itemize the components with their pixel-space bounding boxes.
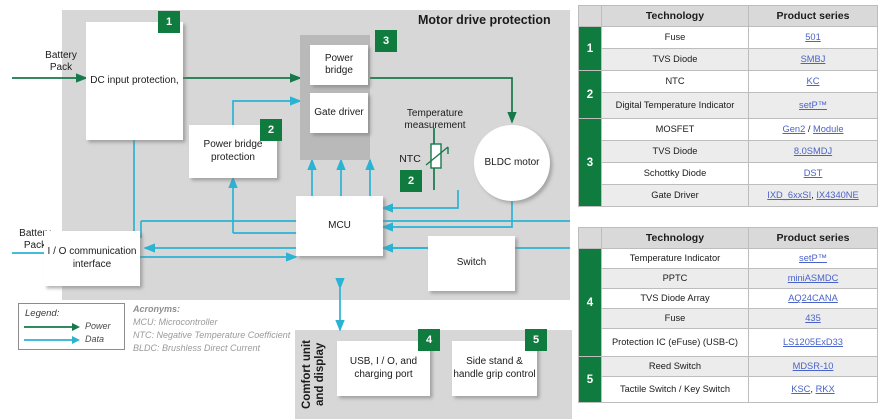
- acronym-mcu: MCU: Microcontroller: [133, 316, 290, 329]
- table-row: Gate DriverIXD_6xxSI, IX4340NE: [579, 185, 878, 207]
- cell-product-series: 501: [749, 27, 878, 49]
- legend-power-label: Power: [85, 321, 111, 331]
- table-row: Tactile Switch / Key SwitchKSC, RKX: [579, 377, 878, 403]
- table-row: Digital Temperature IndicatorsetP™: [579, 93, 878, 119]
- block-gate-driver-label: Gate driver: [314, 107, 363, 120]
- label-comfort-unit-and-display: Comfort unit and display: [301, 332, 327, 417]
- header-number: [579, 228, 602, 249]
- table-row: Fuse435: [579, 309, 878, 329]
- product-link[interactable]: RKX: [816, 384, 835, 394]
- block-bldc-motor-label: BLDC motor: [484, 157, 539, 170]
- cell-technology: PPTC: [602, 269, 749, 289]
- group-number-3: 3: [579, 119, 602, 207]
- badge-4[interactable]: 4: [418, 329, 440, 351]
- product-link[interactable]: miniASMDC: [788, 273, 839, 283]
- header-technology: Technology: [602, 228, 749, 249]
- product-link[interactable]: setP™: [799, 100, 827, 110]
- product-link[interactable]: SMBJ: [801, 54, 826, 64]
- header-product-series: Product series: [749, 228, 878, 249]
- cell-technology: NTC: [602, 71, 749, 93]
- product-separator: /: [805, 124, 813, 134]
- block-gate-driver[interactable]: Gate driver: [310, 93, 368, 133]
- block-switch-label: Switch: [457, 257, 486, 270]
- badge-2-ntc[interactable]: 2: [400, 170, 422, 192]
- cell-technology: MOSFET: [602, 119, 749, 141]
- cell-product-series: Gen2 / Module: [749, 119, 878, 141]
- cell-product-series: MDSR-10: [749, 357, 878, 377]
- cell-product-series: setP™: [749, 249, 878, 269]
- block-power-bridge[interactable]: Power bridge: [310, 45, 368, 85]
- table-row: Protection IC (eFuse) (USB-C)LS1205ExD33: [579, 329, 878, 357]
- product-link[interactable]: Gen2: [783, 124, 806, 134]
- group-number-5: 5: [579, 357, 602, 403]
- label-ntc: NTC: [395, 153, 425, 166]
- product-link[interactable]: 8.0SMDJ: [794, 146, 832, 156]
- block-usb-io-charging-port[interactable]: USB, I / O, and charging port: [337, 341, 430, 396]
- header-product-series: Product series: [749, 6, 878, 27]
- cell-product-series: 435: [749, 309, 878, 329]
- cell-technology: TVS Diode Array: [602, 289, 749, 309]
- badge-2[interactable]: 2: [260, 119, 282, 141]
- legend: Legend: Power Data: [18, 303, 125, 350]
- product-link[interactable]: IXD_6xxSI: [767, 190, 811, 200]
- product-link[interactable]: KC: [807, 76, 820, 86]
- block-switch[interactable]: Switch: [428, 236, 515, 291]
- cell-technology: Schottky Diode: [602, 163, 749, 185]
- cell-product-series: miniASMDC: [749, 269, 878, 289]
- badge-3[interactable]: 3: [375, 30, 397, 52]
- block-side-stand-handle-grip-label: Side stand & handle grip control: [452, 356, 537, 381]
- block-bldc-motor[interactable]: BLDC motor: [474, 125, 550, 201]
- cell-technology: Temperature Indicator: [602, 249, 749, 269]
- product-link[interactable]: Module: [813, 124, 844, 134]
- block-io-communication-interface-label: I / O communication interface: [44, 246, 140, 271]
- cell-technology: Tactile Switch / Key Switch: [602, 377, 749, 403]
- cell-technology: Reed Switch: [602, 357, 749, 377]
- table-header-row: TechnologyProduct series: [579, 6, 878, 27]
- block-dc-input-protection-label: DC input protection,: [90, 75, 178, 88]
- acronym-bldc: BLDC: Brushless Direct Current: [133, 342, 290, 355]
- table-row: PPTCminiASMDC: [579, 269, 878, 289]
- cell-technology: Fuse: [602, 27, 749, 49]
- table-row: 3MOSFETGen2 / Module: [579, 119, 878, 141]
- block-power-bridge-label: Power bridge: [310, 53, 368, 78]
- cell-technology: Digital Temperature Indicator: [602, 93, 749, 119]
- cell-product-series: LS1205ExD33: [749, 329, 878, 357]
- label-battery-pack-top: Battery Pack: [34, 50, 88, 74]
- acronyms-heading: Acronyms:: [133, 303, 290, 316]
- block-power-bridge-protection-label: Power bridge protection: [189, 139, 277, 164]
- diagram-title: Motor drive protection: [418, 13, 551, 27]
- product-link[interactable]: AQ24CANA: [788, 293, 838, 303]
- cell-product-series: AQ24CANA: [749, 289, 878, 309]
- cell-product-series: setP™: [749, 93, 878, 119]
- screenshot-root: Motor drive protection Battery Pack Batt…: [0, 0, 879, 419]
- ntc-thermistor-icon: [424, 140, 460, 176]
- cell-product-series: DST: [749, 163, 878, 185]
- header-number: [579, 6, 602, 27]
- cell-technology: TVS Diode: [602, 141, 749, 163]
- legend-data-label: Data: [85, 334, 104, 344]
- acronyms-block: Acronyms: MCU: Microcontroller NTC: Nega…: [133, 303, 290, 355]
- block-diagram: Motor drive protection Battery Pack Batt…: [0, 0, 572, 419]
- product-link[interactable]: 435: [805, 313, 821, 323]
- block-dc-input-protection[interactable]: DC input protection,: [86, 22, 183, 140]
- table-row: TVS Diode8.0SMDJ: [579, 141, 878, 163]
- cell-product-series: KC: [749, 71, 878, 93]
- block-usb-io-charging-port-label: USB, I / O, and charging port: [337, 356, 430, 381]
- table-row: TVS Diode ArrayAQ24CANA: [579, 289, 878, 309]
- legend-title: Legend:: [25, 308, 59, 319]
- table-row: TVS DiodeSMBJ: [579, 49, 878, 71]
- legend-data-arrow-icon: [24, 335, 82, 345]
- cell-product-series: SMBJ: [749, 49, 878, 71]
- block-mcu-label: MCU: [328, 220, 351, 233]
- product-link[interactable]: DST: [804, 168, 823, 178]
- table-row: 4Temperature IndicatorsetP™: [579, 249, 878, 269]
- cell-product-series: IXD_6xxSI, IX4340NE: [749, 185, 878, 207]
- cell-technology: Protection IC (eFuse) (USB-C): [602, 329, 749, 357]
- cell-product-series: 8.0SMDJ: [749, 141, 878, 163]
- product-link[interactable]: MDSR-10: [793, 361, 834, 371]
- legend-power-arrow-icon: [24, 322, 82, 332]
- table-row: 2NTCKC: [579, 71, 878, 93]
- cell-technology: Gate Driver: [602, 185, 749, 207]
- product-link[interactable]: 501: [805, 32, 821, 42]
- product-link[interactable]: LS1205ExD33: [783, 337, 843, 347]
- product-table-2: TechnologyProduct series4Temperature Ind…: [578, 227, 878, 403]
- product-table-1: TechnologyProduct series1Fuse501TVS Diod…: [578, 5, 878, 207]
- group-number-1: 1: [579, 27, 602, 71]
- acronym-ntc: NTC: Negative Temperature Coefficient: [133, 329, 290, 342]
- cell-product-series: KSC, RKX: [749, 377, 878, 403]
- label-temperature-measurement: Temperature measurement: [396, 108, 474, 132]
- product-link[interactable]: setP™: [799, 253, 827, 263]
- cell-technology: TVS Diode: [602, 49, 749, 71]
- badge-5[interactable]: 5: [525, 329, 547, 351]
- product-link[interactable]: IX4340NE: [816, 190, 858, 200]
- product-link[interactable]: KSC: [791, 384, 810, 394]
- block-mcu[interactable]: MCU: [296, 196, 383, 256]
- table-row: 5Reed SwitchMDSR-10: [579, 357, 878, 377]
- group-number-2: 2: [579, 71, 602, 119]
- block-io-communication-interface[interactable]: I / O communication interface: [44, 231, 140, 286]
- group-number-4: 4: [579, 249, 602, 357]
- cell-technology: Fuse: [602, 309, 749, 329]
- badge-1[interactable]: 1: [158, 11, 180, 33]
- table-header-row: TechnologyProduct series: [579, 228, 878, 249]
- table-row: 1Fuse501: [579, 27, 878, 49]
- table-row: Schottky DiodeDST: [579, 163, 878, 185]
- header-technology: Technology: [602, 6, 749, 27]
